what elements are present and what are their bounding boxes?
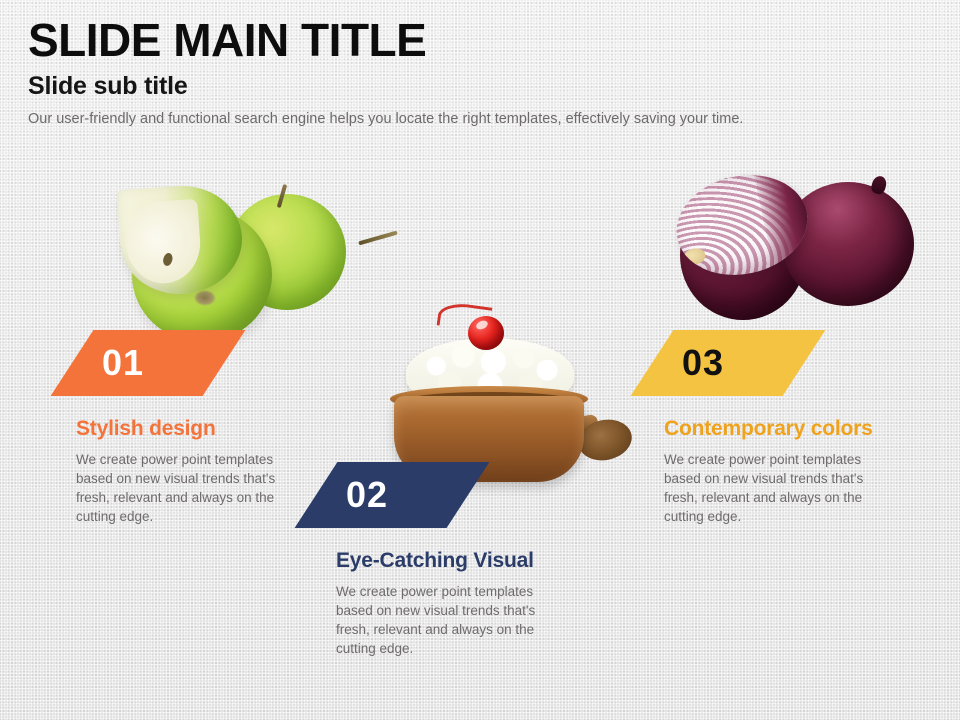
apple-calyx — [194, 290, 216, 306]
ribbon-03: 03 — [631, 330, 826, 396]
apple-seed — [162, 252, 174, 267]
red-onions-photo — [676, 176, 916, 336]
item-title-03: Contemporary colors — [664, 416, 928, 442]
green-apples-photo — [120, 186, 400, 336]
item-number-01: 01 — [72, 330, 224, 396]
feature-card-03[interactable]: 03 Contemporary colors We create power p… — [628, 330, 928, 526]
slide-canvas: SLIDE MAIN TITLE Slide sub title Our use… — [0, 0, 960, 720]
item-title-01: Stylish design — [76, 416, 348, 442]
item-number-03: 03 — [652, 330, 804, 396]
apple-half-flesh — [123, 199, 203, 286]
page-subtitle: Slide sub title — [28, 71, 928, 101]
cottage-cheese-bowl-photo — [382, 300, 642, 480]
item-body-02: We create power point templates based on… — [336, 582, 568, 658]
ribbon-02: 02 — [295, 462, 490, 528]
item-number-02: 02 — [316, 462, 468, 528]
slide-header: SLIDE MAIN TITLE Slide sub title Our use… — [28, 14, 928, 130]
item-body-01: We create power point templates based on… — [76, 450, 308, 526]
ribbon-01: 01 — [51, 330, 246, 396]
apple-half-stem-icon — [358, 231, 398, 246]
page-title: SLIDE MAIN TITLE — [28, 14, 928, 66]
feature-card-02[interactable]: 02 Eye-Catching Visual We create power p… — [292, 462, 592, 658]
onion-half-skin — [753, 163, 817, 272]
page-description: Our user-friendly and functional search … — [28, 109, 890, 130]
item-title-02: Eye-Catching Visual — [336, 548, 592, 574]
item-body-03: We create power point templates based on… — [664, 450, 896, 526]
